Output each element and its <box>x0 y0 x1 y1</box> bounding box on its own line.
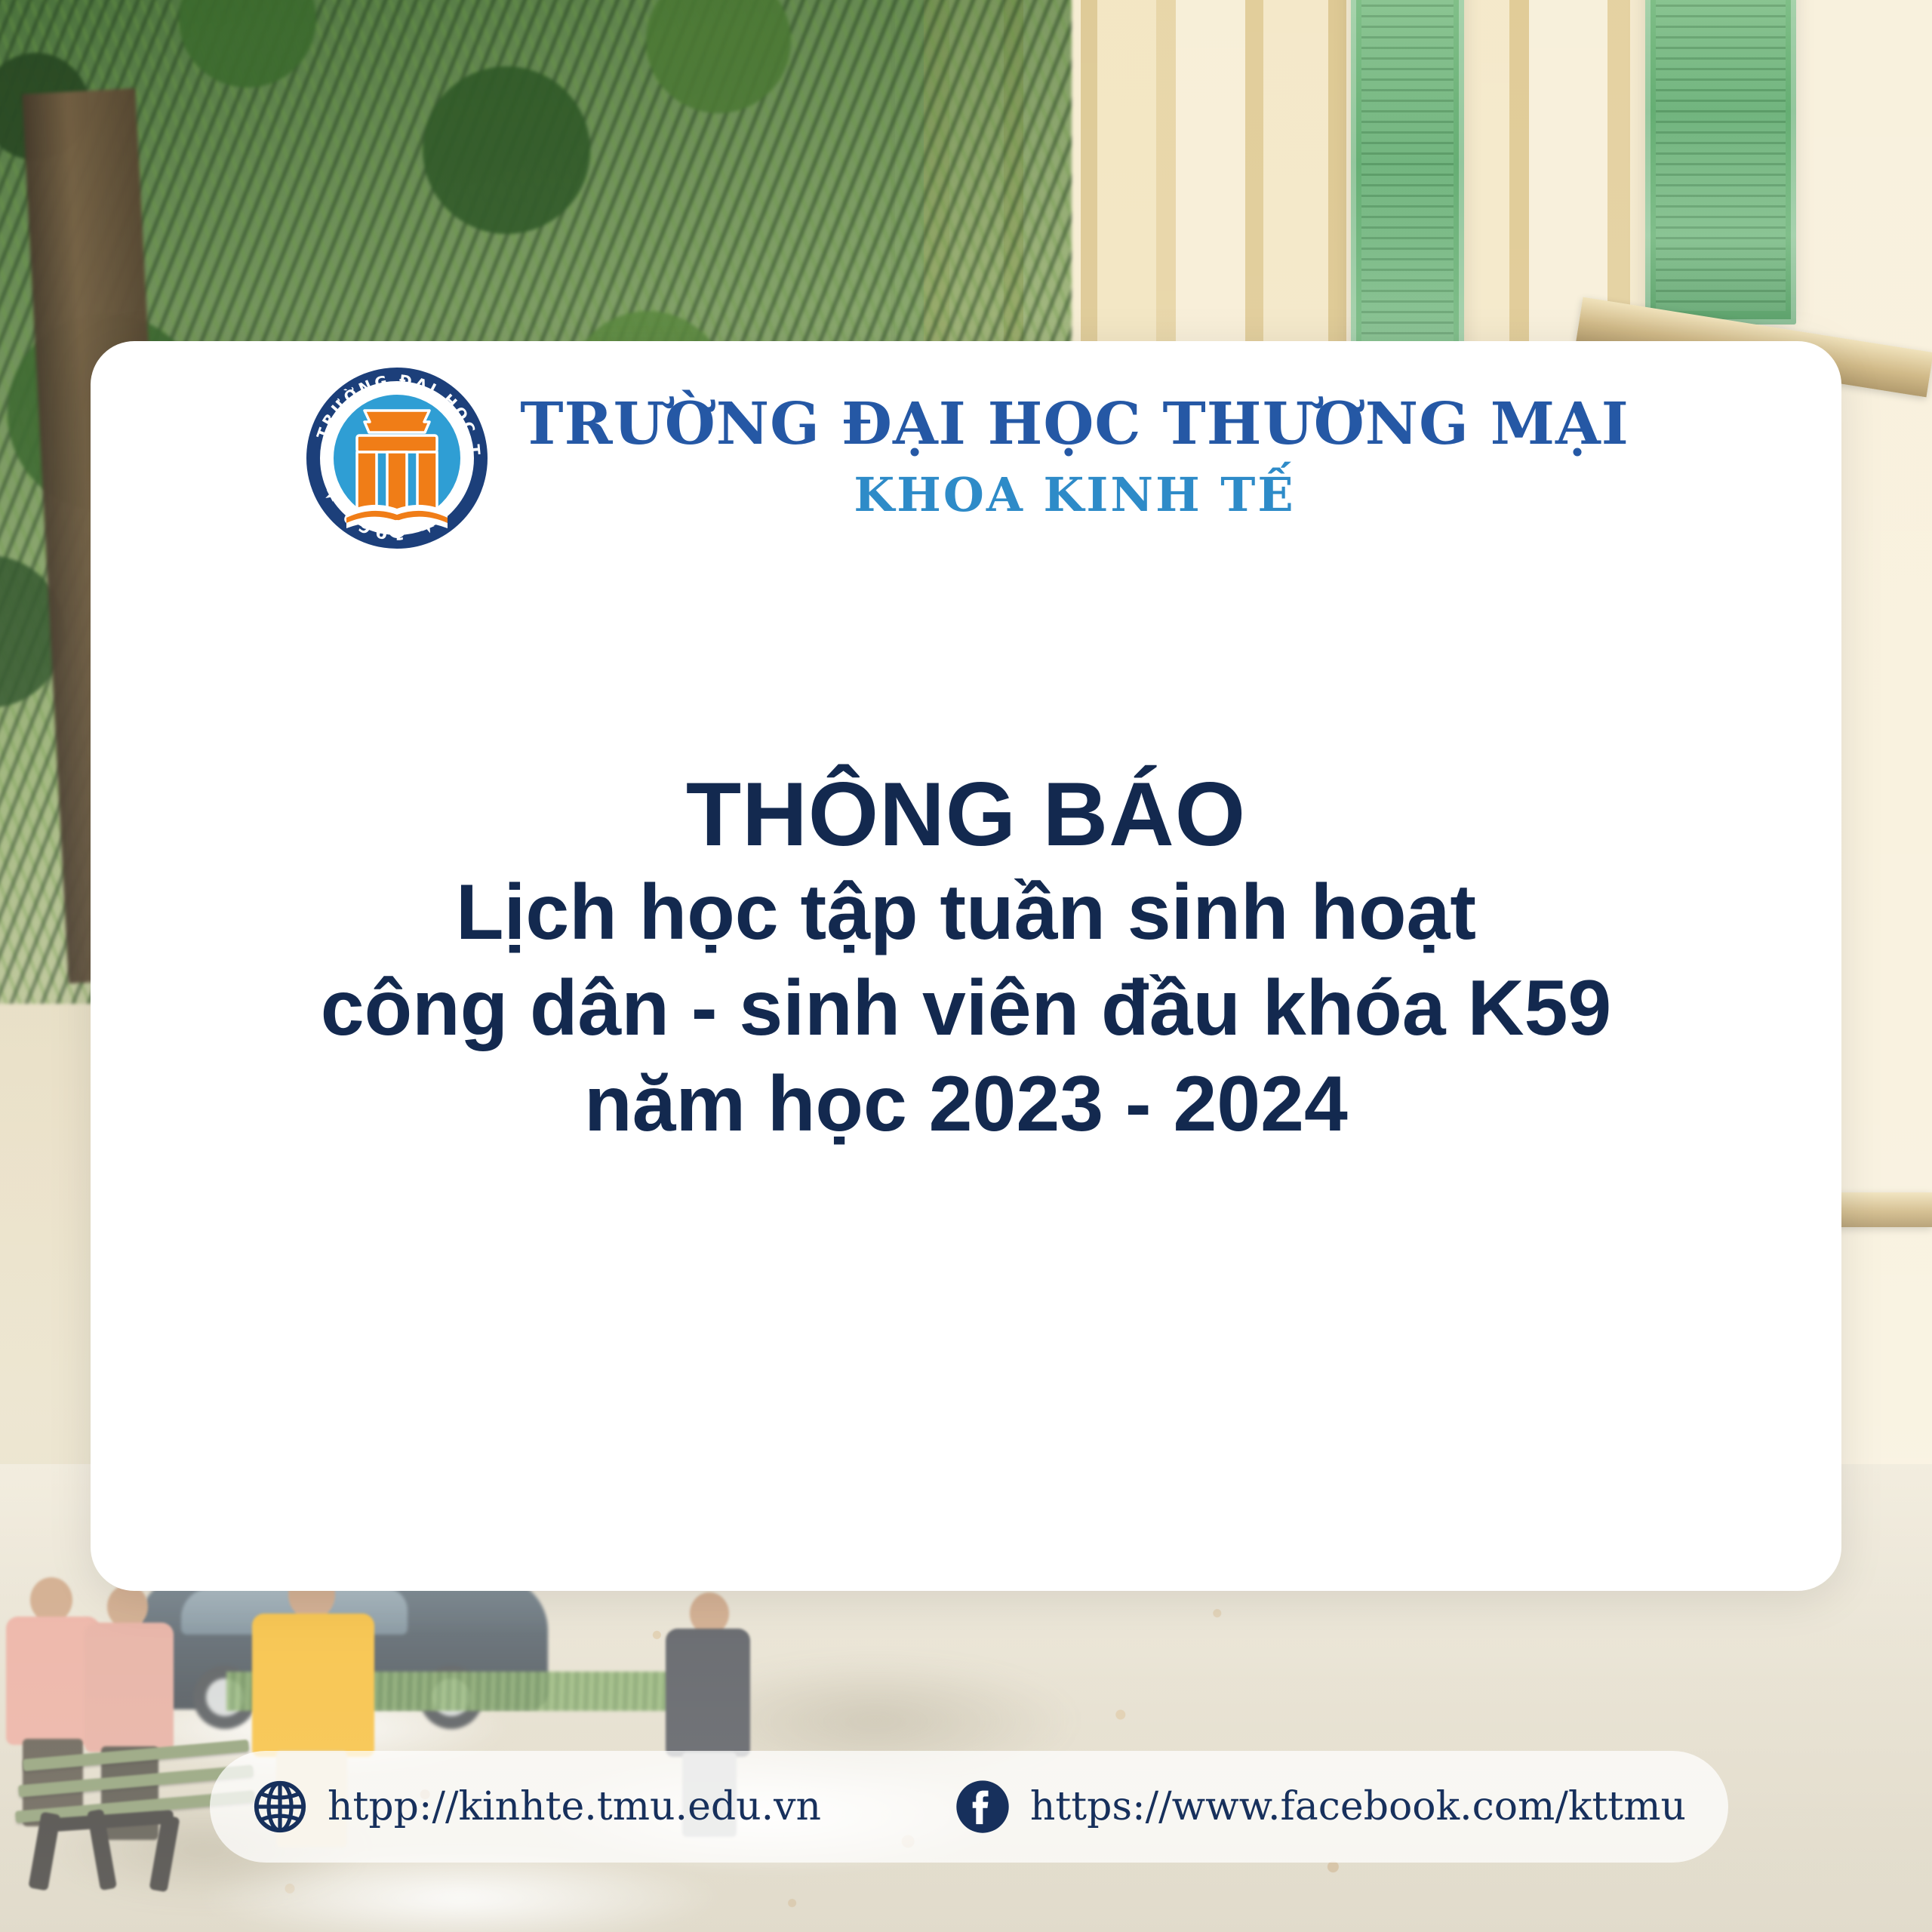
announcement-line-1: Lịch học tập tuần sinh hoạt <box>91 865 1841 961</box>
facebook-url: https://www.facebook.com/kttmu <box>1030 1784 1686 1829</box>
tmu-seal-logo: TRƯỜNG ĐẠI HỌC THƯƠNG MẠI ★ 1960 ★ <box>303 364 491 552</box>
globe-icon <box>252 1779 308 1835</box>
header-text-block: TRƯỜNG ĐẠI HỌC THƯƠNG MẠI KHOA KINH TẾ <box>520 394 1629 523</box>
announcement-text-block: THÔNG BÁO Lịch học tập tuần sinh hoạt cô… <box>91 764 1841 1152</box>
university-name: TRƯỜNG ĐẠI HỌC THƯƠNG MẠI <box>520 394 1629 456</box>
facebook-link[interactable]: https://www.facebook.com/kttmu <box>955 1779 1686 1835</box>
website-url: htpp://kinhte.tmu.edu.vn <box>328 1784 821 1829</box>
facebook-icon <box>955 1779 1011 1835</box>
announcement-line-2: công dân - sinh viên đầu khóa K59 <box>91 961 1841 1057</box>
footer-contact-bar: htpp://kinhte.tmu.edu.vn https://www.fac… <box>210 1751 1728 1863</box>
announcement-kicker: THÔNG BÁO <box>91 764 1841 865</box>
announcement-line-3: năm học 2023 - 2024 <box>91 1057 1841 1152</box>
announcement-card: TRƯỜNG ĐẠI HỌC THƯƠNG MẠI ★ 1960 ★ <box>91 341 1841 1591</box>
website-link[interactable]: htpp://kinhte.tmu.edu.vn <box>252 1779 909 1835</box>
faculty-name: KHOA KINH TẾ <box>854 467 1295 522</box>
card-header: TRƯỜNG ĐẠI HỌC THƯƠNG MẠI ★ 1960 ★ <box>91 364 1841 552</box>
